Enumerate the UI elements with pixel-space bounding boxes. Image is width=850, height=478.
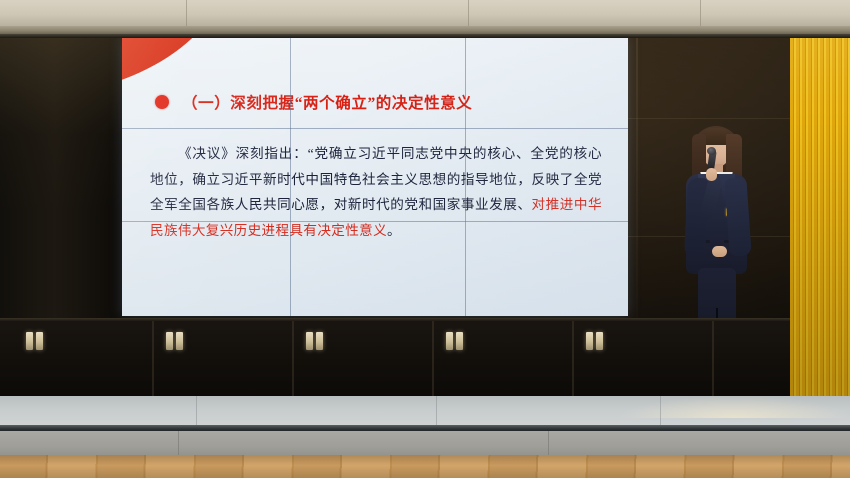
presenter-hand-holding-mic [706,168,717,181]
slat-wall-shading [790,36,850,426]
ceiling-lip [0,26,850,34]
stage-skirt-top-edge [0,318,790,321]
stage-light-fixture [456,332,463,350]
stage-riser-seam [548,431,549,457]
slide-title: （一）深刻把握“两个确立”的决定性意义 [182,91,472,113]
stage-riser-seam [178,431,179,457]
stage-light-fixture [306,332,313,350]
presenter-arm-right [724,177,751,256]
stage-riser [0,431,850,457]
slide-title-row: （一）深刻把握“两个确立”的决定性意义 [155,91,615,113]
ceiling-seam [186,0,187,26]
red-dot-icon [155,95,169,109]
stage-floor-light-glow [620,396,850,418]
ceiling-seam [468,0,469,26]
stage-skirt-seam [292,321,294,404]
presenter-hand-lower [712,246,727,257]
stage-skirt-seam [432,321,434,404]
slide-body-text: 《决议》深刻指出：“党确立习近平同志党中央的核心、全党的核心地位，确立习近平新时… [150,141,602,243]
stage-light-fixture [176,332,183,350]
video-wall-seam-vertical [290,37,291,316]
left-pillar [0,36,122,326]
stage-light-fixture [36,332,43,350]
presentation-scene: （一）深刻把握“两个确立”的决定性意义 《决议》深刻指出：“党确立习近平同志党中… [0,0,850,478]
ceiling-seam [700,0,701,26]
slide-body-suffix: 。 [387,223,401,238]
corner-decoration [122,37,248,92]
stage-light-fixture [166,332,173,350]
video-wall-seam-horizontal [122,221,628,222]
stage-skirt-seam [712,321,714,404]
stage-light-fixture [26,332,33,350]
stage-skirt-seam [152,321,154,404]
led-video-wall: （一）深刻把握“两个确立”的决定性意义 《决议》深刻指出：“党确立习近平同志党中… [122,37,628,316]
stage-light-fixture [596,332,603,350]
ceiling-soffit [0,0,850,26]
back-wall-column [636,36,638,326]
stage-light-fixture [586,332,593,350]
video-wall-seam-vertical [465,37,466,316]
stage-light-fixture [316,332,323,350]
stage-light-fixture [446,332,453,350]
stage-skirt-seam [572,321,574,404]
video-wall-seam-horizontal [122,128,628,129]
ceiling-shadow-line [0,34,850,38]
stage-skirt [0,318,790,404]
wood-floor-shading [0,455,850,478]
